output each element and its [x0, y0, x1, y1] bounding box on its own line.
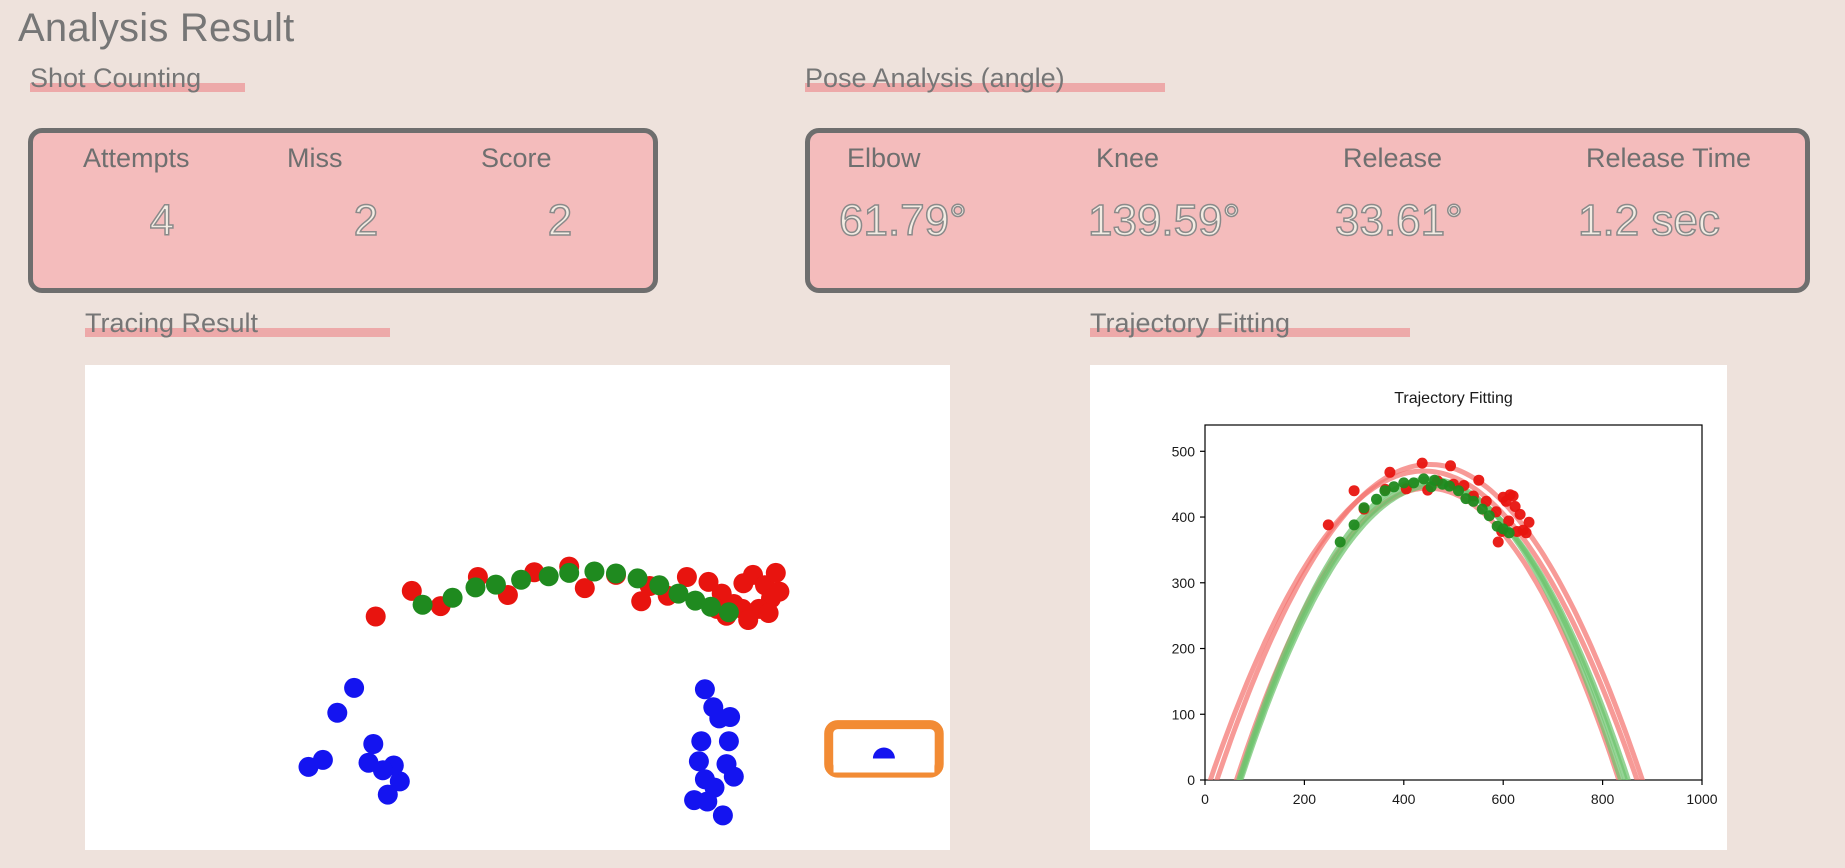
y-tick-label: 0 — [1187, 772, 1195, 788]
data-point — [1515, 509, 1526, 520]
trace-point — [738, 610, 758, 630]
highlight-mask — [834, 759, 935, 773]
section-heading-trajectory-fitting: Trajectory Fitting — [1090, 308, 1290, 339]
trace-point — [486, 575, 506, 595]
metric-release-label: Release — [1341, 143, 1444, 174]
y-tick-label: 300 — [1172, 575, 1196, 591]
x-tick-label: 800 — [1591, 791, 1615, 807]
section-heading-shot-counting: Shot Counting — [30, 63, 201, 94]
trace-point — [363, 734, 383, 754]
metric-release-time-value: 1.2 sec — [1578, 196, 1720, 246]
trace-point — [443, 588, 463, 608]
data-point — [1524, 517, 1535, 528]
data-point — [1508, 491, 1519, 502]
data-point — [1371, 494, 1382, 505]
data-point — [1445, 460, 1456, 471]
data-point — [1384, 467, 1395, 478]
page-title: Analysis Result — [18, 6, 294, 51]
trace-point — [766, 563, 786, 583]
trace-point — [713, 805, 733, 825]
fit-curve — [1203, 471, 1659, 846]
y-tick-label: 100 — [1172, 706, 1196, 722]
y-tick-label: 200 — [1172, 641, 1196, 657]
metric-miss-label: Miss — [285, 143, 345, 174]
data-point — [1335, 537, 1346, 548]
x-tick-label: 1000 — [1686, 791, 1717, 807]
metric-release: Release 33.61° — [1315, 133, 1562, 288]
data-point — [1359, 502, 1370, 513]
trace-point — [719, 731, 739, 751]
trace-point — [759, 603, 779, 623]
trace-point — [628, 568, 648, 588]
trace-point — [511, 570, 531, 590]
trace-point — [466, 577, 486, 597]
metric-elbow-value: 61.79° — [839, 196, 967, 246]
data-point — [1408, 477, 1419, 488]
trace-point — [584, 562, 604, 582]
section-heading-pose-analysis: Pose Analysis (angle) — [805, 63, 1065, 94]
trace-point — [359, 753, 379, 773]
tracing-result-scatter — [85, 365, 950, 850]
trace-point — [344, 678, 364, 698]
data-point — [1493, 537, 1504, 548]
metric-miss-value: 2 — [354, 196, 378, 246]
metric-elbow-label: Elbow — [845, 143, 923, 174]
metric-release-value: 33.61° — [1335, 196, 1463, 246]
shot-counting-card: Attempts 4 Miss 2 Score 2 — [28, 128, 658, 293]
chart-title: Trajectory Fitting — [1394, 390, 1513, 407]
trace-point — [720, 707, 740, 727]
data-point — [1398, 477, 1409, 488]
data-point — [1323, 519, 1334, 530]
section-heading-tracing-result: Tracing Result — [85, 308, 258, 339]
metric-score-label: Score — [479, 143, 554, 174]
y-tick-label: 400 — [1172, 509, 1196, 525]
metric-score-value: 2 — [548, 196, 572, 246]
x-tick-label: 600 — [1492, 791, 1516, 807]
trace-point — [695, 679, 715, 699]
trace-point — [684, 790, 704, 810]
y-tick-label: 500 — [1172, 443, 1196, 459]
trace-point — [691, 731, 711, 751]
data-point — [1473, 475, 1484, 486]
data-point — [1349, 485, 1360, 496]
fit-curve — [1230, 486, 1645, 831]
metric-miss: Miss 2 — [255, 133, 459, 288]
trace-point — [539, 566, 559, 586]
trace-point — [689, 751, 709, 771]
trajectory-fitting-panel: Trajectory Fitting0200400600800100001002… — [1090, 365, 1727, 850]
data-point — [1504, 527, 1515, 538]
trace-point — [559, 563, 579, 583]
metric-knee-label: Knee — [1094, 143, 1161, 174]
trace-point — [313, 750, 333, 770]
data-point — [1388, 481, 1399, 492]
trace-point — [719, 602, 739, 622]
data-point — [1468, 496, 1479, 507]
trace-point — [327, 703, 347, 723]
metric-score: Score 2 — [459, 133, 653, 288]
x-tick-label: 400 — [1392, 791, 1416, 807]
x-tick-label: 200 — [1293, 791, 1317, 807]
metric-release-time: Release Time 1.2 sec — [1562, 133, 1805, 288]
data-point — [1521, 527, 1532, 538]
data-point — [1417, 458, 1428, 469]
trajectory-fitting-chart: Trajectory Fitting0200400600800100001002… — [1090, 365, 1727, 850]
metric-attempts-label: Attempts — [81, 143, 192, 174]
data-point — [1484, 510, 1495, 521]
trace-points-blue — [299, 678, 744, 826]
trace-point — [413, 595, 433, 615]
trace-point — [366, 607, 386, 627]
metric-knee: Knee 139.59° — [1066, 133, 1315, 288]
tracing-result-panel — [85, 365, 950, 850]
metric-attempts: Attempts 4 — [33, 133, 255, 288]
trace-point — [769, 582, 789, 602]
trace-point — [649, 575, 669, 595]
metric-release-time-label: Release Time — [1584, 143, 1753, 174]
y-axis-ticks: 0100200300400500 — [1172, 443, 1205, 788]
x-tick-label: 0 — [1201, 791, 1209, 807]
x-axis-ticks: 02004006008001000 — [1201, 780, 1718, 807]
metric-knee-value: 139.59° — [1088, 196, 1240, 246]
pose-analysis-card: Elbow 61.79° Knee 139.59° Release 33.61°… — [805, 128, 1810, 293]
metric-elbow: Elbow 61.79° — [810, 133, 1066, 288]
data-point — [1349, 519, 1360, 530]
metric-attempts-value: 4 — [150, 196, 174, 246]
trace-point — [717, 754, 737, 774]
trace-point — [701, 597, 721, 617]
trace-point — [606, 564, 626, 584]
